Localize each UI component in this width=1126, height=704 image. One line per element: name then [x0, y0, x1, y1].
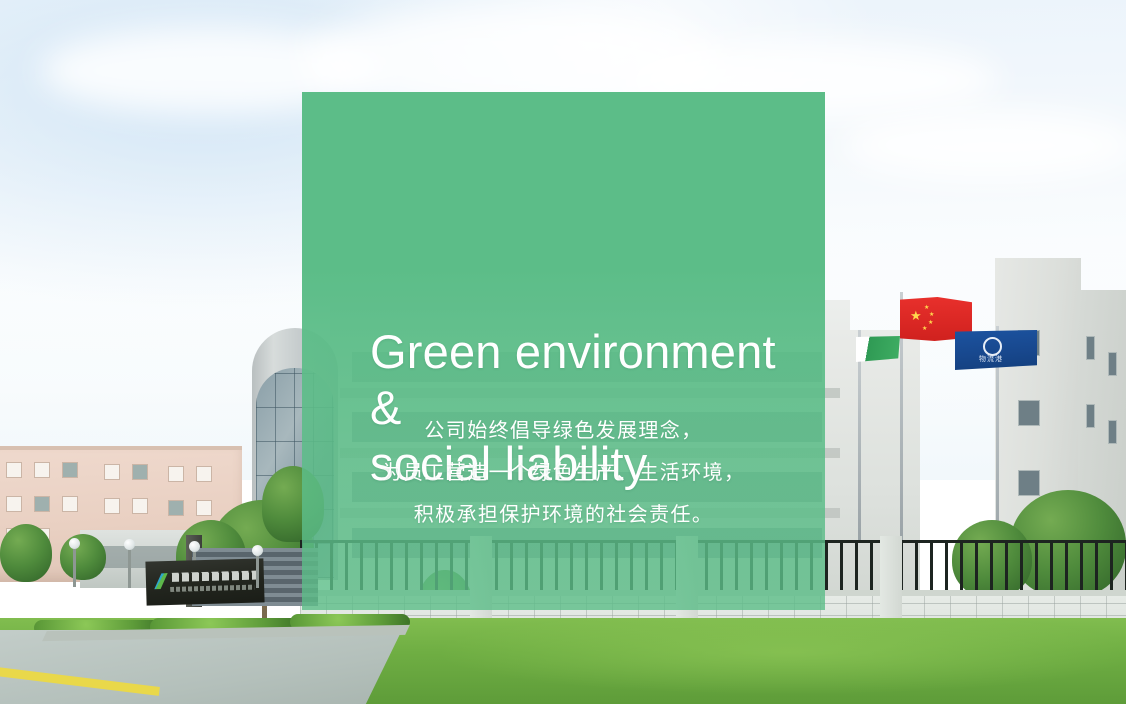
flag-star-icon: ★	[910, 309, 922, 322]
gate-lamp	[189, 541, 200, 552]
driveway-road	[0, 630, 402, 704]
green-overlay-panel: Green environment & social liability 公司始…	[302, 92, 825, 610]
flag-star-icon: ★	[922, 326, 927, 332]
gate-lamp	[252, 545, 263, 556]
window	[1108, 352, 1117, 376]
window	[1086, 404, 1095, 428]
banner-paragraph: 公司始终倡导绿色发展理念， 为员工营造一个绿色生产、生活环境， 积极承担保护环境…	[302, 410, 825, 536]
lamp-post	[256, 552, 259, 588]
window	[104, 498, 120, 514]
company-flag: 物流港	[955, 330, 1037, 370]
tree	[0, 524, 52, 582]
flag-star-icon: ★	[928, 320, 933, 326]
panel-content: Green environment & social liability 公司始…	[302, 92, 825, 610]
banner-stage: ★ ★ ★ ★ ★ 物流港	[0, 0, 1126, 704]
window	[62, 462, 78, 478]
flag-star-icon: ★	[924, 305, 929, 311]
company-flag-label: 物流港	[979, 354, 1003, 364]
window	[34, 462, 50, 478]
gate-lamp	[124, 539, 135, 550]
window	[168, 500, 184, 516]
signboard-subtitle	[170, 585, 254, 592]
window	[132, 498, 148, 514]
lamp-post	[128, 546, 131, 588]
window	[168, 466, 184, 482]
window	[196, 466, 212, 482]
gate-lamp	[69, 538, 80, 549]
window	[1018, 470, 1040, 496]
green-flag	[856, 336, 900, 362]
signboard-company-name	[172, 571, 258, 582]
flag-star-icon: ★	[929, 312, 934, 318]
tree	[60, 534, 106, 580]
lamp-post	[73, 545, 76, 587]
window	[196, 500, 212, 516]
window	[34, 496, 50, 512]
window	[104, 464, 120, 480]
cloud	[840, 110, 1126, 180]
window	[6, 462, 22, 478]
paragraph-line-3: 积极承担保护环境的社会责任。	[302, 494, 825, 536]
company-signboard	[145, 558, 264, 605]
paragraph-line-2: 为员工营造一个绿色生产、生活环境，	[302, 452, 825, 494]
window	[62, 496, 78, 512]
paragraph-line-1: 公司始终倡导绿色发展理念，	[302, 410, 825, 452]
window	[1018, 400, 1040, 426]
window	[6, 496, 22, 512]
window	[1108, 420, 1117, 444]
company-logo-icon	[154, 573, 168, 589]
window	[1086, 336, 1095, 360]
window	[132, 464, 148, 480]
